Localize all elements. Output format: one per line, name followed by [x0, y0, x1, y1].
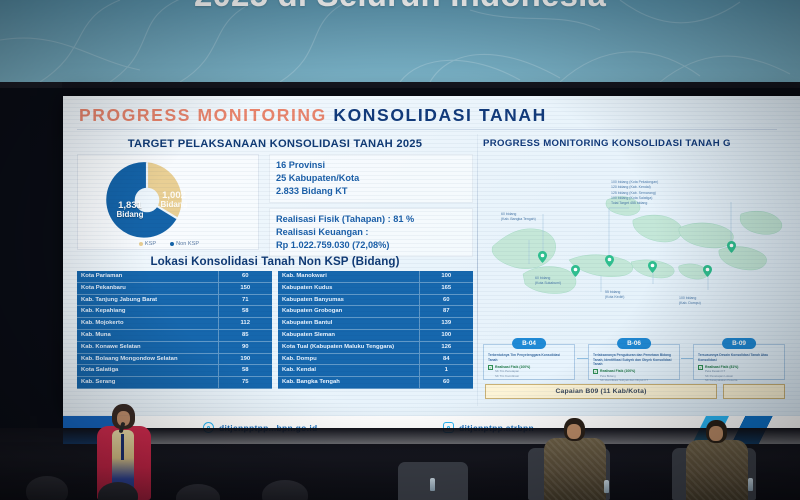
panelist-2	[682, 420, 756, 500]
lokasi-value: 100	[419, 271, 473, 282]
milestone-card-b-09[interactable]: B-09Tersusunnya Desain Konsolidasi Tanah…	[693, 344, 785, 380]
table-row: Kab. Kepahiang58	[77, 306, 272, 318]
milestone-description: Terlaksananya Pengukuran dan Pemetaan Bi…	[593, 353, 675, 367]
table-row: Kab. Bolaang Mongondow Selatan190	[77, 353, 272, 365]
lokasi-name: Kab. Kepahiang	[77, 306, 218, 318]
table-row: Kab. Bangka Tengah60	[278, 377, 473, 389]
stat-realisasi-keuangan-value: Rp 1.022.759.030 (72,08%)	[276, 239, 466, 252]
milestone-badge: B-09	[722, 338, 756, 349]
lokasi-name: Kota Salatiga	[77, 365, 218, 377]
lokasi-value: 60	[218, 271, 272, 282]
map-note-sukabumi: 60 bidang (Kota Sukabumi)	[535, 276, 561, 287]
conference-room-scene: 2025 di Seluruh Indonesia PROGRESS MONIT…	[0, 0, 800, 500]
map-note-jawa-tengah: 100 bidang (Kota Pekalongan) 120 bidang …	[611, 180, 658, 206]
panelist-2-body	[686, 440, 748, 500]
panelist-1-face	[567, 424, 581, 439]
milestone-sub-items: SK Tim Penetapan SK Tim Koordinasi	[495, 369, 530, 377]
table-row: Kabupaten Bantul139	[278, 318, 473, 330]
donut-label-nonksp: 1,002 Bidang	[152, 191, 196, 209]
lokasi-name: Kab. Bangka Tengah	[278, 377, 419, 389]
donut-legend: KSP Non KSP	[78, 241, 260, 247]
stat-bidang: 2.833 Bidang KT	[276, 185, 466, 198]
milestone-realisasi-row: ✓Realisasi Fisik (81%)Peta Desain KT SK …	[698, 365, 780, 382]
lokasi-tables: Kota Pariaman60Kota Pekanbaru150Kab. Tan…	[77, 271, 473, 389]
table-row: Kab. Konawe Selatan90	[77, 341, 272, 353]
audience-head-1	[26, 476, 68, 500]
stats-top-box: 16 Provinsi 25 Kabupaten/Kota 2.833 Bida…	[269, 154, 473, 203]
lokasi-value: 100	[419, 329, 473, 341]
lokasi-name: Kab. Serang	[77, 377, 218, 389]
table-row: Kabupaten Banyumas60	[278, 294, 473, 306]
lokasi-value: 1	[419, 365, 473, 377]
lokasi-value: 150	[218, 282, 272, 294]
milestone-realisasi-row: ✓Realisasi Fisik (100%)SK Tim Penetapan …	[488, 365, 570, 378]
water-bottle-3	[748, 478, 753, 491]
map-note-bangka-tengah: 60 bidang (Kab. Bangka Tengah)	[501, 212, 536, 223]
lokasi-table-left: Kota Pariaman60Kota Pekanbaru150Kab. Tan…	[77, 271, 272, 389]
lokasi-value: 112	[218, 318, 272, 330]
panelist-1	[540, 418, 614, 500]
lokasi-table-right: Kab. Manokwari100Kabupaten Kudus165Kabup…	[278, 271, 473, 389]
table-row: Kab. Tanjung Jabung Barat71	[77, 294, 272, 306]
lokasi-name: Kabupaten Grobogan	[278, 306, 419, 318]
milestone-row: B-04Terbentuknya Tim Penyelenggara Konso…	[483, 334, 785, 380]
lokasi-value: 58	[218, 365, 272, 377]
lokasi-value: 84	[419, 353, 473, 365]
led-screen: PROGRESS MONITORING KONSOLIDASI TANAH TA…	[0, 88, 800, 428]
lokasi-name: Kabupaten Banyumas	[278, 294, 419, 306]
milestone-badge: B-04	[512, 338, 546, 349]
milestone-sub-items: Peta Bidang SK Identifikasi Subyek dan O…	[600, 374, 648, 382]
lokasi-name: Kota Pekanbaru	[77, 282, 218, 294]
lokasi-name: Kab. Manokwari	[278, 271, 419, 282]
table-row: Kabupaten Kudus165	[278, 282, 473, 294]
stat-realisasi-keuangan-label: Realisasi Keuangan :	[276, 226, 466, 239]
stat-provinsi: 16 Provinsi	[276, 159, 466, 172]
lokasi-value: 85	[218, 329, 272, 341]
table-row: Kota Salatiga58	[77, 365, 272, 377]
lokasi-value: 87	[419, 306, 473, 318]
panelist-1-body	[544, 438, 606, 500]
milestone-description: Tersusunnya Desain Konsolidasi Tanah Ata…	[698, 353, 780, 362]
panel-divider	[477, 134, 478, 406]
table-row: Kabupaten Grobogan87	[278, 306, 473, 318]
lokasi-value: 58	[218, 306, 272, 318]
target-stats: 16 Provinsi 25 Kabupaten/Kota 2.833 Bida…	[265, 154, 473, 262]
table-row: Kab. Muna85	[77, 329, 272, 341]
map-pin-sukabumi[interactable]	[571, 264, 580, 276]
map-note-kediri: 55 bidang (Kota Kediri)	[605, 290, 624, 301]
lokasi-name: Kab. Kendal	[278, 365, 419, 377]
table-row: Kab. Dompu84	[278, 353, 473, 365]
stat-realisasi-fisik: Realisasi Fisik (Tahapan) : 81 %	[276, 213, 466, 226]
lokasi-name: Kabupaten Sleman	[278, 329, 419, 341]
map-pin-dompu[interactable]	[703, 264, 712, 276]
lokasi-name: Kota Tual (Kabupaten Maluku Tenggara)	[278, 341, 419, 353]
lokasi-value: 90	[218, 341, 272, 353]
lokasi-value: 139	[419, 318, 473, 330]
milestone-card-b-06[interactable]: B-06Terlaksananya Pengukuran dan Pemetaa…	[588, 344, 680, 380]
top-banner: 2025 di Seluruh Indonesia	[0, 0, 800, 82]
lokasi-name: Kab. Dompu	[278, 353, 419, 365]
table-row: Kab. Manokwari100	[278, 271, 473, 282]
donut-yellow-unit: Bidang	[160, 200, 187, 209]
lokasi-value: 71	[218, 294, 272, 306]
capaian-bar-secondary	[723, 384, 785, 399]
speaker-lanyard	[121, 434, 124, 460]
capaian-bar: Capaian B09 (11 Kab/Kota)	[485, 384, 717, 399]
table-row: Kab. Kendal1	[278, 365, 473, 377]
table-row: Kabupaten Sleman100	[278, 329, 473, 341]
lokasi-name: Kab. Muna	[77, 329, 218, 341]
lokasi-value: 60	[419, 377, 473, 389]
lokasi-value: 190	[218, 353, 272, 365]
legend-item-nonksp: Non KSP	[170, 241, 199, 247]
lokasi-value: 60	[419, 294, 473, 306]
left-panel: TARGET PELAKSANAAN KONSOLIDASI TANAH 202…	[77, 138, 473, 406]
slide-header-primary: PROGRESS MONITORING	[79, 105, 327, 125]
donut-label-ksp: 1,831 Bidang	[106, 201, 154, 219]
map-pin-bangka-tengah[interactable]	[538, 250, 547, 262]
header-divider	[77, 129, 777, 130]
donut-chart-container: 1,831 Bidang 1,002 Bidang KSP Non KSP	[77, 154, 259, 250]
slide-header: PROGRESS MONITORING KONSOLIDASI TANAH	[79, 105, 547, 126]
water-bottle-2	[604, 480, 609, 493]
table-row: Kota Tual (Kabupaten Maluku Tenggara)126	[278, 341, 473, 353]
table-row: Kota Pariaman60	[77, 271, 272, 282]
map-note-dompu: 100 bidang (Kab. Dompu)	[679, 296, 701, 307]
stat-kabkota: 25 Kabupaten/Kota	[276, 172, 466, 185]
monitoring-section-title: PROGRESS MONITORING KONSOLIDASI TANAH G	[483, 138, 785, 149]
legend-item-ksp: KSP	[139, 241, 156, 247]
lokasi-name: Kabupaten Bantul	[278, 318, 419, 330]
map-pin-kediri[interactable]	[648, 260, 657, 272]
lokasi-value: 75	[218, 377, 272, 389]
table-row: Kab. Mojokerto112	[77, 318, 272, 330]
water-bottle-1	[430, 478, 435, 491]
check-icon: ✓	[698, 365, 703, 370]
presentation-slide: PROGRESS MONITORING KONSOLIDASI TANAH TA…	[63, 96, 800, 416]
milestone-sub-items: Peta Desain KT SK Penetapan Lokasi SK Ke…	[705, 369, 738, 382]
lokasi-name: Kab. Konawe Selatan	[77, 341, 218, 353]
target-section-title: TARGET PELAKSANAAN KONSOLIDASI TANAH 202…	[77, 138, 473, 150]
right-panel: PROGRESS MONITORING KONSOLIDASI TANAH G	[483, 138, 785, 406]
map-pin-east[interactable]	[727, 240, 736, 252]
lokasi-name: Kabupaten Kudus	[278, 282, 419, 294]
check-icon: ✓	[593, 369, 598, 374]
lokasi-value: 126	[419, 341, 473, 353]
stats-bottom-box: Realisasi Fisik (Tahapan) : 81 % Realisa…	[269, 208, 473, 257]
milestone-card-b-04[interactable]: B-04Terbentuknya Tim Penyelenggara Konso…	[483, 344, 575, 380]
milestone-badge: B-06	[617, 338, 651, 349]
panelist-2-face	[709, 426, 723, 441]
banner-title: 2025 di Seluruh Indonesia	[0, 0, 800, 14]
donut-blue-unit: Bidang	[116, 210, 143, 219]
lokasi-name: Kab. Mojokerto	[77, 318, 218, 330]
lokasi-value: 165	[419, 282, 473, 294]
slide-header-secondary: KONSOLIDASI TANAH	[333, 105, 547, 125]
lokasi-name: Kota Pariaman	[77, 271, 218, 282]
table-row: Kab. Serang75	[77, 377, 272, 389]
check-icon: ✓	[488, 365, 493, 370]
milestone-description: Terbentuknya Tim Penyelenggara Konsolida…	[488, 353, 570, 362]
table-row: Kota Pekanbaru150	[77, 282, 272, 294]
target-summary-row: 1,831 Bidang 1,002 Bidang KSP Non KSP	[77, 154, 473, 250]
milestone-connector-2	[681, 358, 693, 359]
milestone-realisasi-row: ✓Realisasi Fisik (100%)Peta Bidang SK Id…	[593, 369, 675, 382]
indonesia-map: 60 bidang (Kab. Bangka Tengah) 100 bidan…	[483, 154, 785, 338]
lokasi-name: Kab. Bolaang Mongondow Selatan	[77, 353, 218, 365]
map-pin-jawa-tengah[interactable]	[605, 254, 614, 266]
lokasi-name: Kab. Tanjung Jabung Barat	[77, 294, 218, 306]
